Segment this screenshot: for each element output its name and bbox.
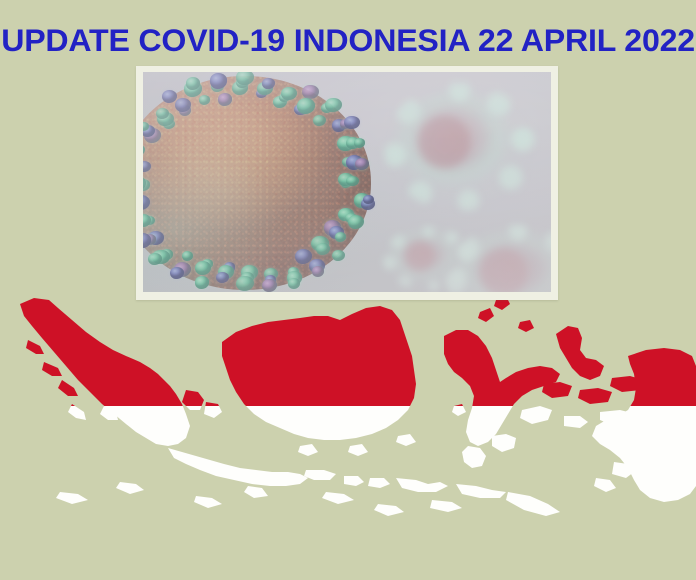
page-title: UPDATE COVID-19 INDONESIA 22 APRIL 2022 bbox=[1, 20, 695, 60]
primary-virion bbox=[143, 76, 371, 289]
sars-cov-2-virus-image bbox=[143, 72, 551, 292]
flag-red-band bbox=[0, 286, 696, 406]
poster-title-bar: UPDATE COVID-19 INDONESIA 22 APRIL 2022 bbox=[0, 20, 696, 60]
indonesia-map-svg bbox=[0, 286, 696, 580]
background-virion-top-right bbox=[392, 90, 527, 204]
flag-white-band bbox=[0, 406, 696, 580]
covid-update-poster: UPDATE COVID-19 INDONESIA 22 APRIL 2022 bbox=[0, 0, 696, 580]
virus-photo-frame bbox=[136, 66, 558, 300]
map-flag-fill bbox=[0, 286, 696, 580]
background-virion-bottom-right bbox=[453, 230, 551, 292]
indonesia-map bbox=[0, 286, 696, 580]
